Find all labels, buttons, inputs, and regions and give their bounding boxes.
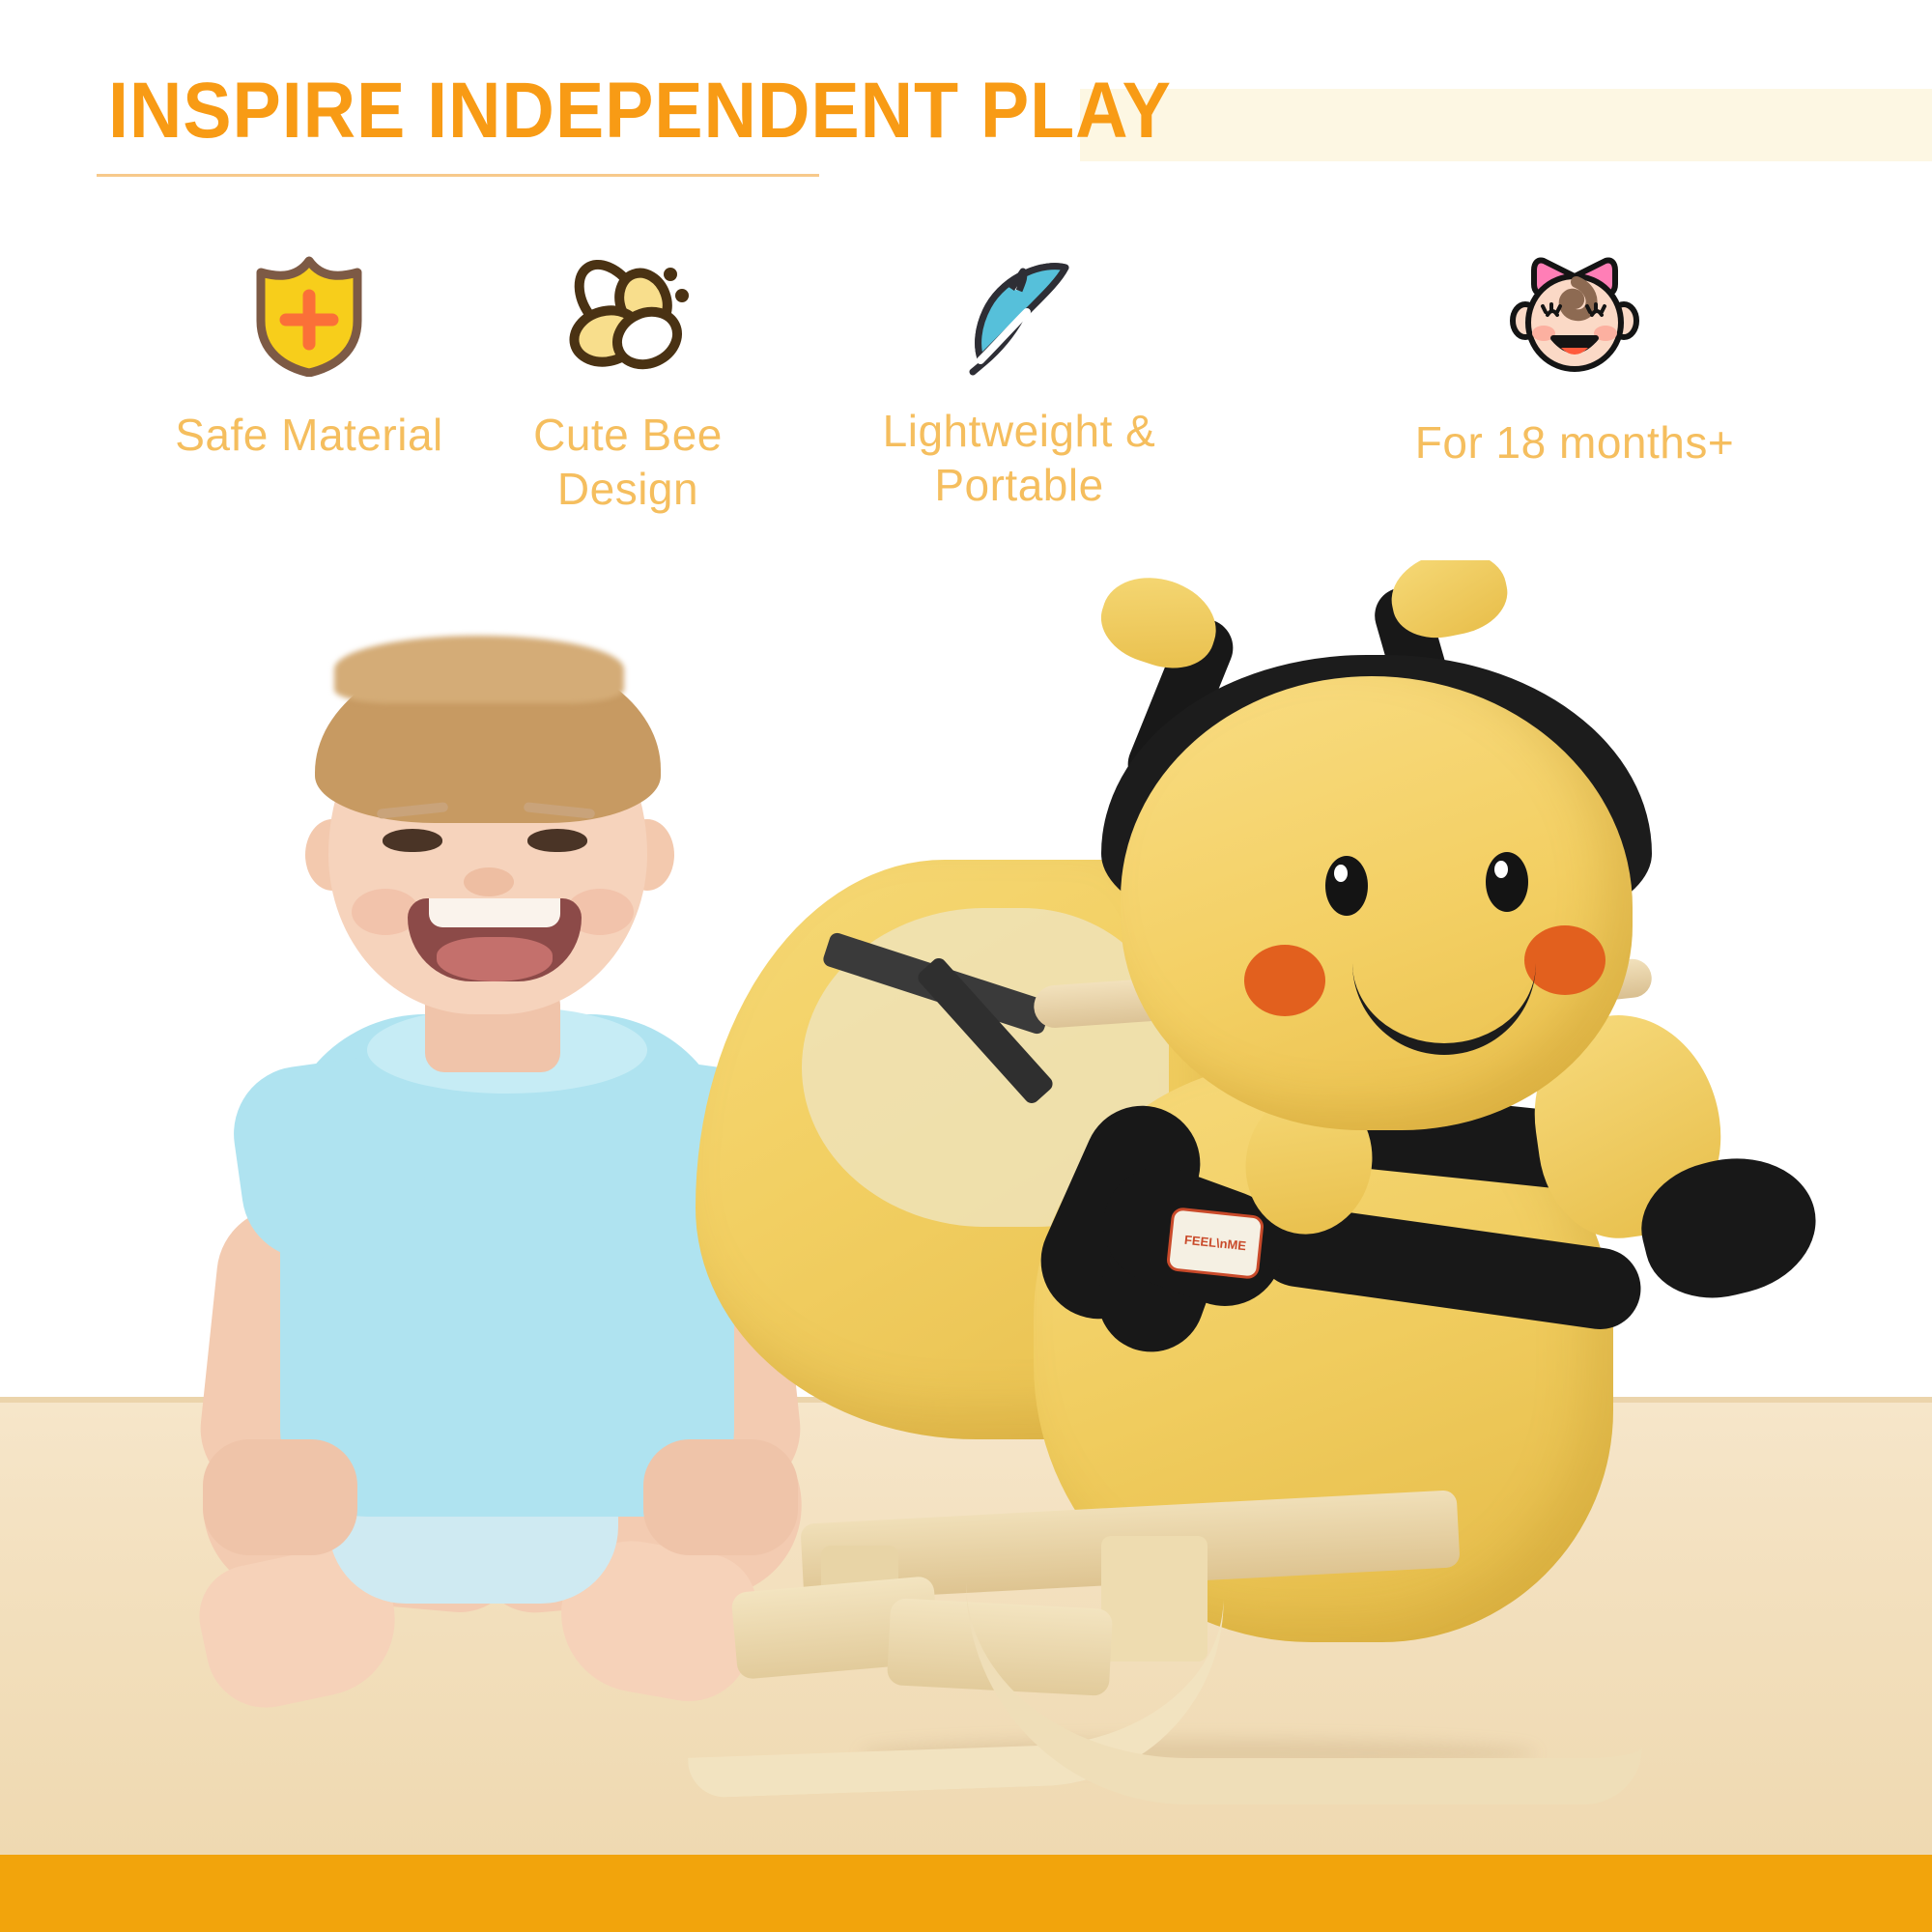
feather-icon: [811, 241, 1227, 386]
shield-plus-icon: [116, 241, 502, 386]
feature-list: Safe Material Cute Bee Design: [0, 241, 1932, 560]
header-divider: [97, 174, 819, 177]
bee-cheek-right: [1524, 925, 1605, 995]
baby-nose: [464, 867, 514, 896]
bee-eye-left: [1325, 856, 1368, 916]
bee-rocking-horse: FEEL\nME: [715, 560, 1874, 1816]
baby-face-icon: [1236, 241, 1913, 386]
feature-item-cute-bee-design: Cute Bee Design: [483, 241, 773, 516]
feature-label: For 18 months+: [1236, 386, 1913, 469]
feature-label: Lightweight & Portable: [811, 386, 1227, 512]
header-accent-band: [1080, 89, 1932, 161]
feature-label-line1: Cute Bee: [483, 408, 773, 462]
feature-label-line2: Portable: [811, 458, 1227, 512]
feature-label: Cute Bee Design: [483, 386, 773, 516]
baby-eye-right: [527, 829, 587, 852]
baby-mouth: [408, 898, 582, 981]
feature-item-lightweight-portable: Lightweight & Portable: [811, 241, 1227, 512]
feature-label: Safe Material: [116, 386, 502, 462]
bee-head: [1121, 676, 1633, 1130]
baby-hand-left: [203, 1439, 357, 1555]
feature-label-line2: Design: [483, 462, 773, 516]
page-title: INSPIRE INDEPENDENT PLAY: [108, 71, 1172, 151]
feel-me-badge: FEEL\nME: [1166, 1207, 1264, 1280]
bee-icon: [483, 241, 773, 386]
baby-teeth: [429, 898, 560, 927]
bottom-accent-bar: [0, 1855, 1932, 1932]
feature-item-age-range: For 18 months+: [1236, 241, 1913, 469]
product-photo: FEEL\nME: [0, 560, 1932, 1855]
feature-item-safe-material: Safe Material: [116, 241, 502, 462]
promo-page: INSPIRE INDEPENDENT PLAY Safe Material: [0, 0, 1932, 1932]
baby-eye-left: [383, 829, 442, 852]
bee-eye-right: [1486, 852, 1528, 912]
header: INSPIRE INDEPENDENT PLAY: [0, 0, 1932, 203]
bee-cheek-left: [1244, 945, 1325, 1016]
rocker-rail-right: [966, 1565, 1642, 1804]
baby-tongue: [437, 937, 553, 981]
baby-hair: [315, 649, 661, 823]
badge-label: FEEL\nME: [1183, 1235, 1246, 1253]
feature-label-line1: Lightweight &: [811, 404, 1227, 458]
